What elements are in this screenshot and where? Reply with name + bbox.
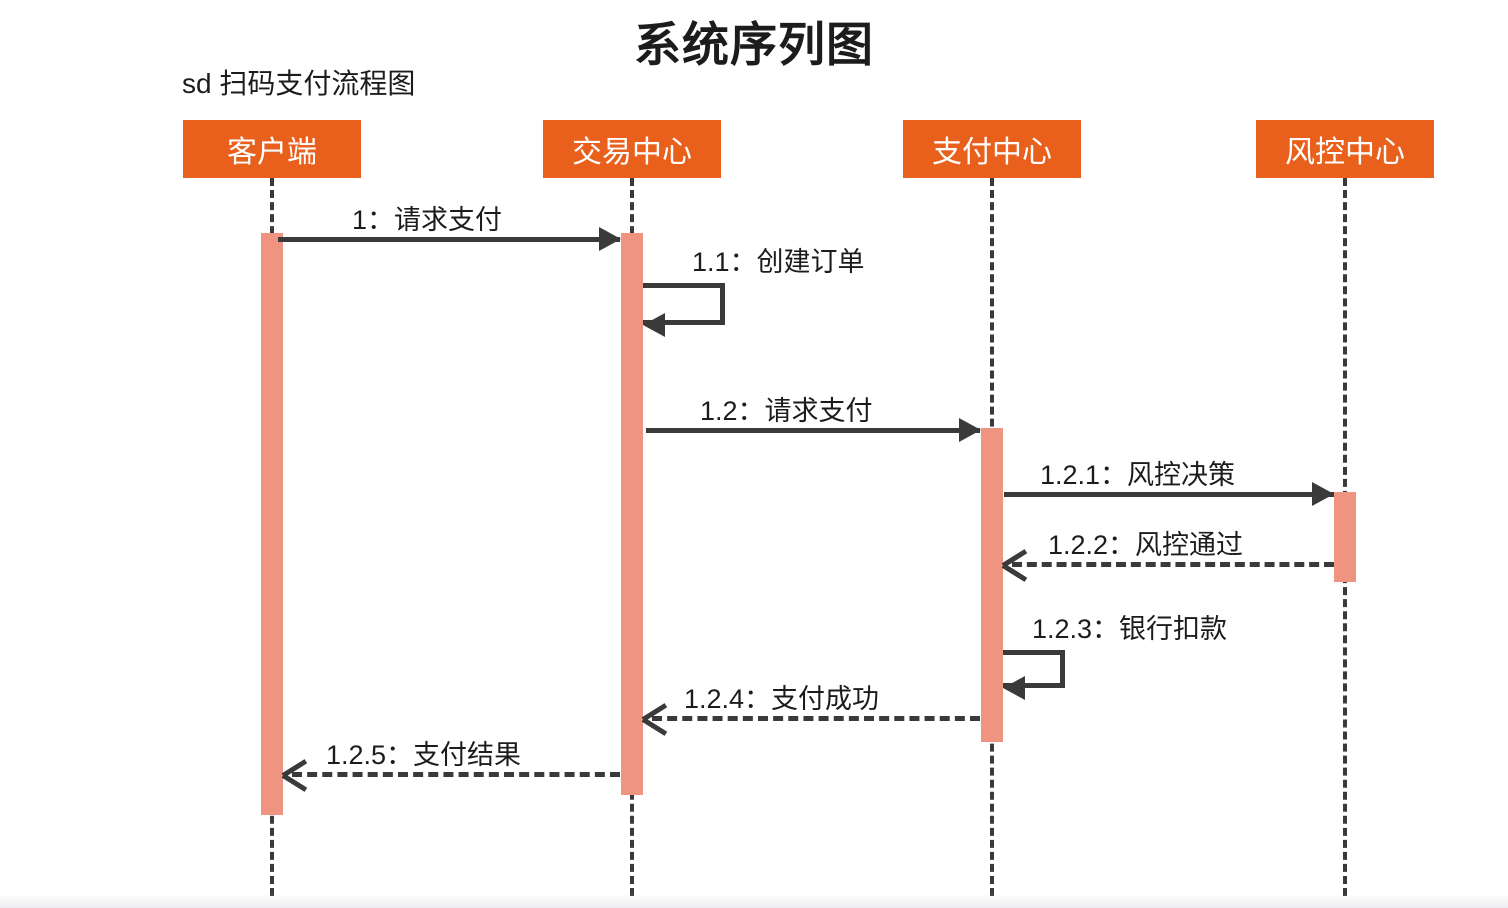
message-1-2-4-arrowhead-icon xyxy=(643,703,667,731)
activation-bar-client xyxy=(261,233,283,815)
message-1-2-3-arrowhead-icon xyxy=(1003,676,1025,700)
participant-pay-label: 支付中心 xyxy=(932,127,1052,171)
message-1-2-line xyxy=(646,428,980,433)
message-1-2-1-arrowhead-icon xyxy=(1312,482,1334,506)
message-1-2-1-label: 1.2.1：风控决策 xyxy=(1040,453,1235,492)
message-1-2-arrowhead-icon xyxy=(959,418,981,442)
activation-bar-trade xyxy=(621,233,643,795)
activation-bar-pay xyxy=(981,428,1003,742)
participant-client-label: 客户端 xyxy=(227,127,317,171)
message-1-2-5-line xyxy=(292,772,620,777)
participant-trade[interactable]: 交易中心 xyxy=(543,120,721,178)
message-1-2-2-label: 1.2.2：风控通过 xyxy=(1048,523,1243,562)
participant-risk-label: 风控中心 xyxy=(1285,127,1405,171)
message-1-2-3-label: 1.2.3：银行扣款 xyxy=(1032,607,1227,646)
message-1-label: 1：请求支付 xyxy=(352,198,502,237)
message-1-2-2-arrowhead-icon xyxy=(1003,549,1027,577)
participant-pay[interactable]: 支付中心 xyxy=(903,120,1081,178)
participant-trade-label: 交易中心 xyxy=(572,127,692,171)
sequence-diagram-canvas: 系统序列图 sd 扫码支付流程图 客户端 交易中心 支付中心 风控中心 1：请求… xyxy=(0,0,1508,908)
participant-risk[interactable]: 风控中心 xyxy=(1256,120,1434,178)
message-1-2-2-line xyxy=(1012,562,1334,567)
participant-client[interactable]: 客户端 xyxy=(183,120,361,178)
message-1-line xyxy=(278,237,620,242)
message-1-2-4-line xyxy=(652,716,980,721)
activation-bar-risk xyxy=(1334,492,1356,582)
message-1-2-1-line xyxy=(1004,492,1334,497)
message-1-2-5-arrowhead-icon xyxy=(283,759,307,787)
message-1-arrowhead-icon xyxy=(599,227,621,251)
page-bottom-shadow xyxy=(0,894,1508,908)
message-1-1-label: 1.1：创建订单 xyxy=(692,240,865,279)
message-1-2-label: 1.2：请求支付 xyxy=(700,389,873,428)
diagram-subtitle: sd 扫码支付流程图 xyxy=(182,62,415,102)
message-1-1-arrowhead-icon xyxy=(643,313,665,337)
message-1-2-4-label: 1.2.4：支付成功 xyxy=(684,677,879,716)
message-1-2-5-label: 1.2.5：支付结果 xyxy=(326,733,521,772)
